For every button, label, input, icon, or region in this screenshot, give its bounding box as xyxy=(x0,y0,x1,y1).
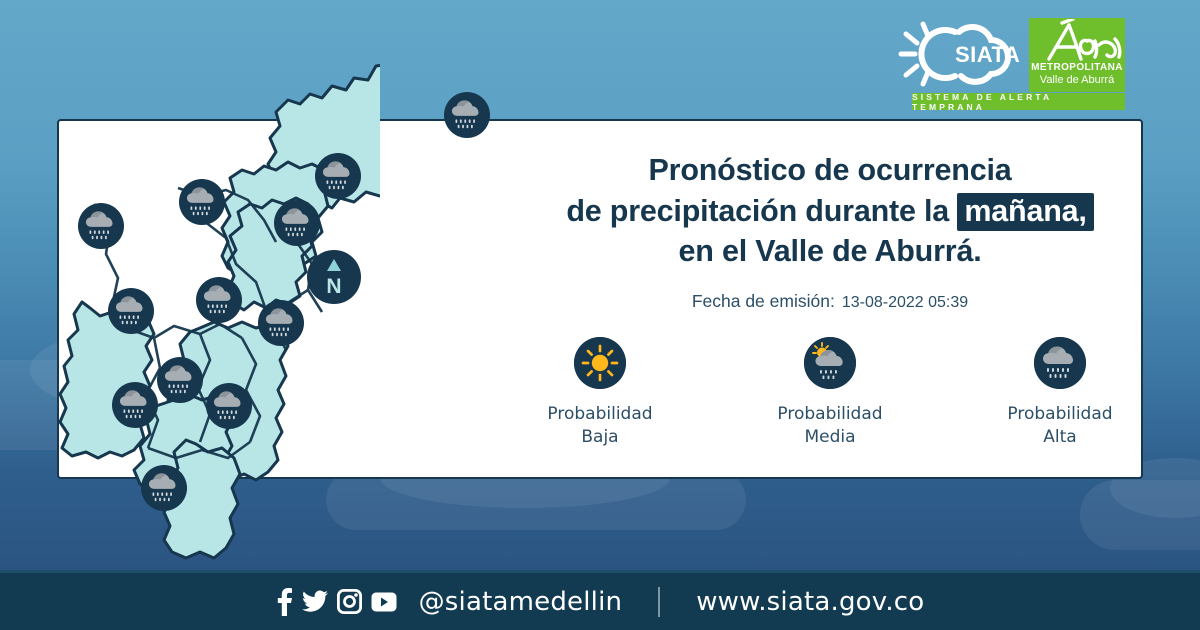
twitter-icon[interactable] xyxy=(302,590,328,614)
legend-item-high: Probabilidad Alta xyxy=(990,337,1130,449)
cloud-rain-icon xyxy=(1034,337,1086,389)
probability-legend: Probabilidad Baja Probabilidad Me xyxy=(520,337,1140,449)
title-line-1: Pronóstico de ocurrencia xyxy=(520,150,1140,191)
youtube-icon[interactable] xyxy=(371,592,397,612)
title-highlight-manana: mañana, xyxy=(957,193,1093,231)
area-logo-line1: METROPOLITANA xyxy=(1029,62,1125,73)
cloud-rain-icon xyxy=(444,125,490,142)
map-marker-envigado xyxy=(258,300,304,346)
map-marker-san-jeronimo xyxy=(78,203,124,249)
svg-text:N: N xyxy=(326,275,341,298)
title-line-3: en el Valle de Aburrá. xyxy=(520,231,1140,272)
sun-cloud-rain-icon xyxy=(804,337,856,389)
sun-icon xyxy=(574,337,626,389)
cloud-rain-icon xyxy=(157,390,203,407)
social-handle[interactable]: @siatamedellin xyxy=(419,587,623,617)
cloud-rain-icon xyxy=(258,333,304,350)
map-marker-caldas xyxy=(206,383,252,429)
map-marker-sabaneta xyxy=(157,357,203,403)
cloud-rain-icon xyxy=(274,233,320,250)
legend-label: Probabilidad Baja xyxy=(530,403,670,449)
map-marker-barbosa xyxy=(444,92,490,138)
siata-sun-cloud-icon: SIATA xyxy=(895,18,1020,90)
map-marker-girardota xyxy=(315,153,361,199)
map-marker-itagui xyxy=(108,288,154,334)
svg-text:SIATA: SIATA xyxy=(955,42,1020,67)
legend-item-medium: Probabilidad Media xyxy=(760,337,900,449)
area-script-icon xyxy=(1029,19,1125,63)
legend-label: Probabilidad Media xyxy=(760,403,900,449)
page-title: Pronóstico de ocurrencia de precipitació… xyxy=(520,150,1140,272)
emission-date-value: 13-08-2022 05:39 xyxy=(842,294,968,312)
emission-date: Fecha de emisión: 13-08-2022 05:39 xyxy=(520,291,1140,312)
title-line-2-text: de precipitación durante la xyxy=(566,194,949,228)
social-icons xyxy=(276,588,397,616)
map-marker-copacabana xyxy=(274,200,320,246)
cloud-rain-icon xyxy=(196,310,242,327)
area-metropolitana-logo: METROPOLITANA Valle de Aburrá xyxy=(1029,18,1125,92)
facebook-icon[interactable] xyxy=(276,588,293,616)
footer-bar: @siatamedellin www.siata.gov.co xyxy=(0,570,1200,630)
footer-divider xyxy=(658,587,660,617)
siata-tagline: SISTEMA DE ALERTA TEMPRANA xyxy=(912,93,1125,110)
area-logo-line2: Valle de Aburrá xyxy=(1029,74,1125,86)
map-marker-medellin xyxy=(196,277,242,323)
infographic-root: N xyxy=(0,0,1200,630)
legend-item-low: Probabilidad Baja xyxy=(530,337,670,449)
map-marker-la-estrella xyxy=(112,382,158,428)
forecast-content: Pronóstico de ocurrencia de precipitació… xyxy=(520,150,1140,460)
compass-north-icon: N xyxy=(307,250,361,304)
legend-label: Probabilidad Alta xyxy=(990,403,1130,449)
cloud-rain-icon xyxy=(78,236,124,253)
cloud-rain-icon xyxy=(112,415,158,432)
cloud-rain-icon xyxy=(179,212,225,229)
title-line-2: de precipitación durante la mañana, xyxy=(520,191,1140,232)
cloud-rain-icon xyxy=(315,186,361,203)
map-marker-bello xyxy=(179,179,225,225)
cloud-rain-icon xyxy=(206,416,252,433)
emission-date-label: Fecha de emisión: xyxy=(692,291,835,312)
cloud-rain-icon xyxy=(141,498,187,515)
website-url[interactable]: www.siata.gov.co xyxy=(696,587,924,617)
instagram-icon[interactable] xyxy=(337,589,362,614)
map-marker-angelopolis xyxy=(141,465,187,511)
cloud-rain-icon xyxy=(108,321,154,338)
